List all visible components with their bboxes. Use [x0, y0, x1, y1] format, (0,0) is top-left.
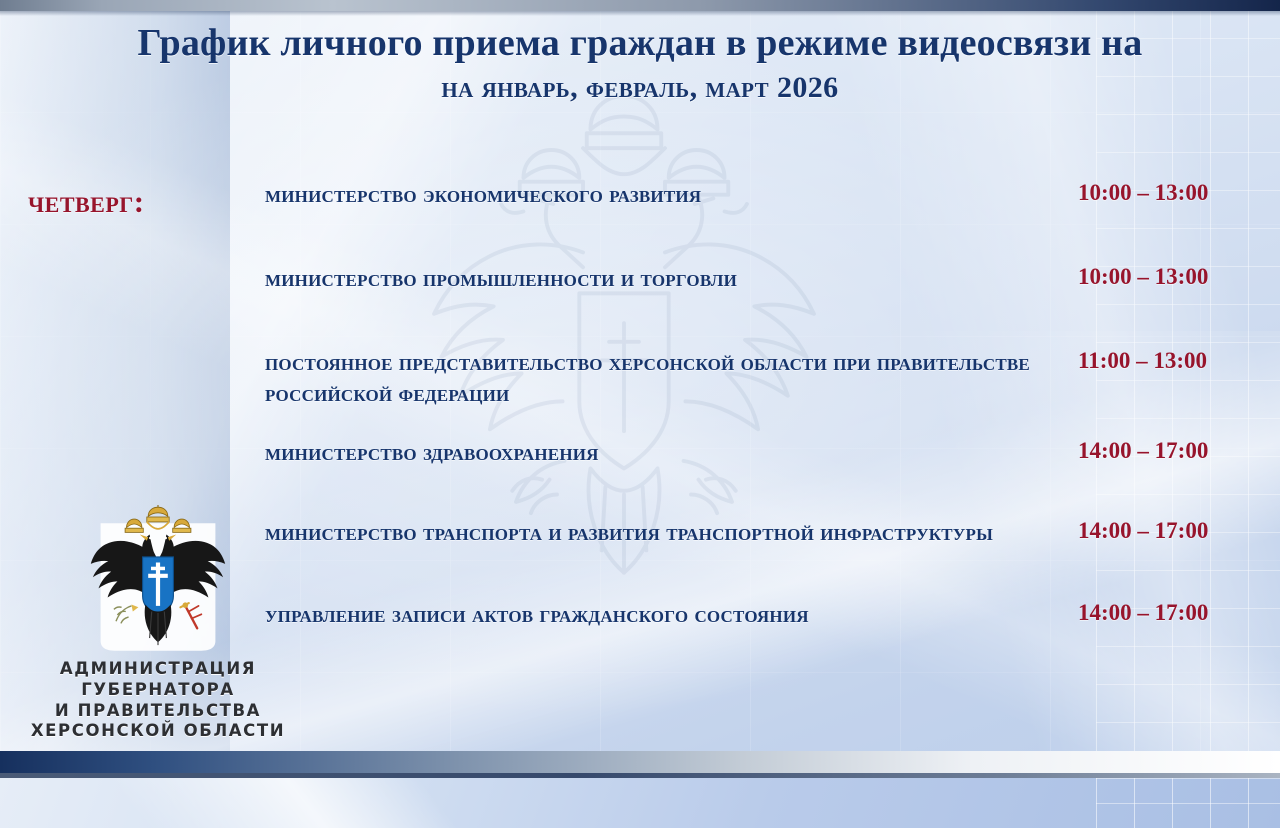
bottom-gradient-band — [0, 751, 1280, 773]
table-row: Министерство промышленности и торговли 1… — [0, 264, 1280, 312]
organization-name: Министерство промышленности и торговли — [265, 264, 1070, 295]
slide-header: График личного приема граждан в режиме в… — [0, 22, 1280, 105]
table-row: Постоянное представительство Херсонской … — [0, 348, 1280, 410]
reception-time: 14:00 – 17:00 — [1070, 518, 1268, 544]
reception-time: 14:00 – 17:00 — [1070, 600, 1268, 626]
double-headed-eagle-icon — [88, 505, 228, 655]
table-row: Министерство здравоохранения 14:00 – 17:… — [0, 438, 1280, 486]
logo-caption: АДМИНИСТРАЦИЯ ГУБЕРНАТОРА И ПРАВИТЕЛЬСТВ… — [18, 659, 298, 742]
page-subtitle: на январь, февраль, март 2026 — [0, 71, 1280, 105]
organization-name: Управление записи актов гражданского сос… — [265, 600, 1070, 631]
bottom-strip-sheen — [0, 778, 700, 828]
page-title: График личного приема граждан в режиме в… — [60, 22, 1220, 65]
organization-name: Министерство экономического развития — [265, 180, 1070, 211]
reception-time: 10:00 – 13:00 — [1070, 264, 1268, 290]
organization-name: Министерство здравоохранения — [265, 438, 1070, 469]
table-row: Министерство экономического развития 10:… — [0, 180, 1280, 228]
reception-time: 11:00 – 13:00 — [1070, 348, 1268, 374]
reception-time: 14:00 – 17:00 — [1070, 438, 1268, 464]
top-accent-bar — [0, 0, 1280, 11]
bottom-strip-grid — [1096, 778, 1280, 828]
organization-name: Министерство транспорта и развития транс… — [265, 518, 1070, 549]
top-bar-shadow — [0, 11, 1280, 16]
organization-name: Постоянное представительство Херсонской … — [265, 348, 1070, 410]
reception-time: 10:00 – 13:00 — [1070, 180, 1268, 206]
slide-root: График личного приема граждан в режиме в… — [0, 0, 1280, 828]
administration-logo: АДМИНИСТРАЦИЯ ГУБЕРНАТОРА И ПРАВИТЕЛЬСТВ… — [18, 505, 298, 742]
